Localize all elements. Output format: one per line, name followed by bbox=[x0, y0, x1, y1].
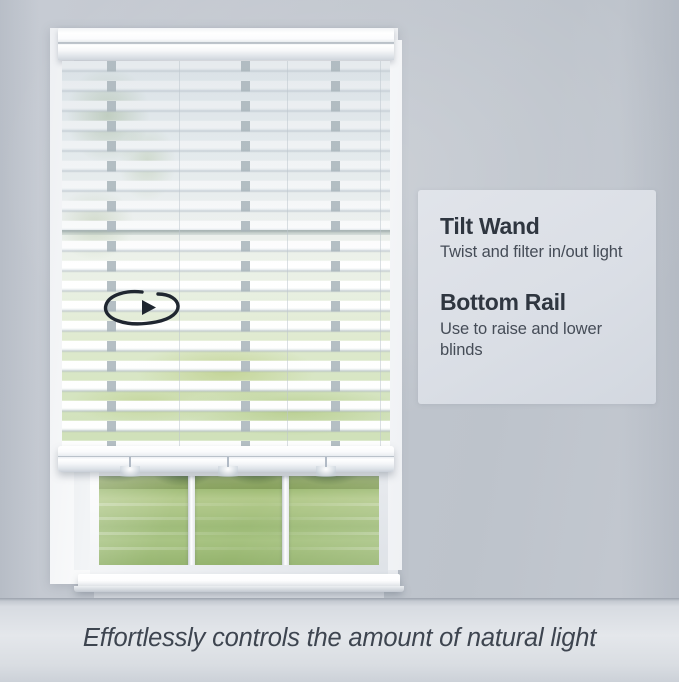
window-assembly bbox=[36, 26, 416, 606]
faux-wood-blind[interactable] bbox=[58, 28, 394, 448]
lift-cord-tag bbox=[316, 466, 336, 477]
ladder-cord bbox=[287, 61, 288, 449]
lift-cord-tag bbox=[218, 466, 238, 477]
feature-callout-panel: Tilt Wand Twist and filter in/out light … bbox=[418, 190, 656, 404]
lift-cord-tag bbox=[120, 466, 140, 477]
feature-tilt-wand: Tilt Wand Twist and filter in/out light bbox=[440, 214, 634, 264]
feature-description: Twist and filter in/out light bbox=[440, 242, 634, 264]
blind-bottom-rail[interactable] bbox=[58, 446, 394, 472]
product-scene: Tilt Wand Twist and filter in/out light … bbox=[0, 0, 679, 682]
tilt-rotation-arrow-icon bbox=[98, 284, 194, 330]
marketing-caption: Effortlessly controls the amount of natu… bbox=[0, 612, 679, 664]
ladder-cord bbox=[179, 61, 180, 449]
feature-bottom-rail: Bottom Rail Use to raise and lower blind… bbox=[440, 290, 634, 362]
ladder-tape bbox=[241, 61, 250, 449]
window-sill-edge bbox=[74, 586, 404, 592]
ladder-tape bbox=[331, 61, 340, 449]
feature-title: Tilt Wand bbox=[440, 214, 634, 239]
blind-valance-headrail[interactable] bbox=[58, 28, 394, 60]
blind-slats[interactable] bbox=[62, 61, 390, 449]
feature-title: Bottom Rail bbox=[440, 290, 634, 315]
ladder-tape bbox=[107, 61, 116, 449]
wall-shadow-left bbox=[0, 0, 40, 614]
ladder-cord bbox=[380, 61, 381, 449]
feature-description: Use to raise and lower blinds bbox=[440, 319, 634, 363]
floor-edge-line bbox=[0, 598, 679, 601]
